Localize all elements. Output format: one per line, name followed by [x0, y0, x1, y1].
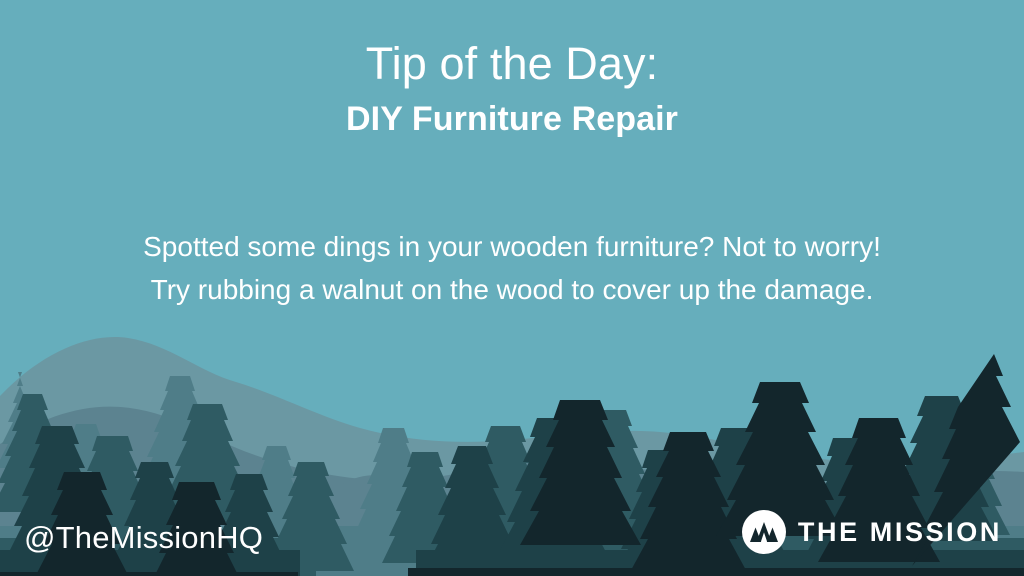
mountain-m-logo-icon — [742, 510, 786, 554]
body-text: Spotted some dings in your wooden furnit… — [132, 226, 892, 311]
social-handle: @TheMissionHQ — [24, 520, 263, 556]
tip-of-the-day-graphic: Tip of the Day: DIY Furniture Repair Spo… — [0, 0, 1024, 576]
brand-logo: THE MISSION — [742, 510, 1002, 554]
brand-wordmark: THE MISSION — [798, 517, 1002, 548]
text-content-block: Tip of the Day: DIY Furniture Repair Spo… — [0, 0, 1024, 311]
page-title: Tip of the Day: — [0, 40, 1024, 89]
page-subtitle: DIY Furniture Repair — [0, 101, 1024, 138]
